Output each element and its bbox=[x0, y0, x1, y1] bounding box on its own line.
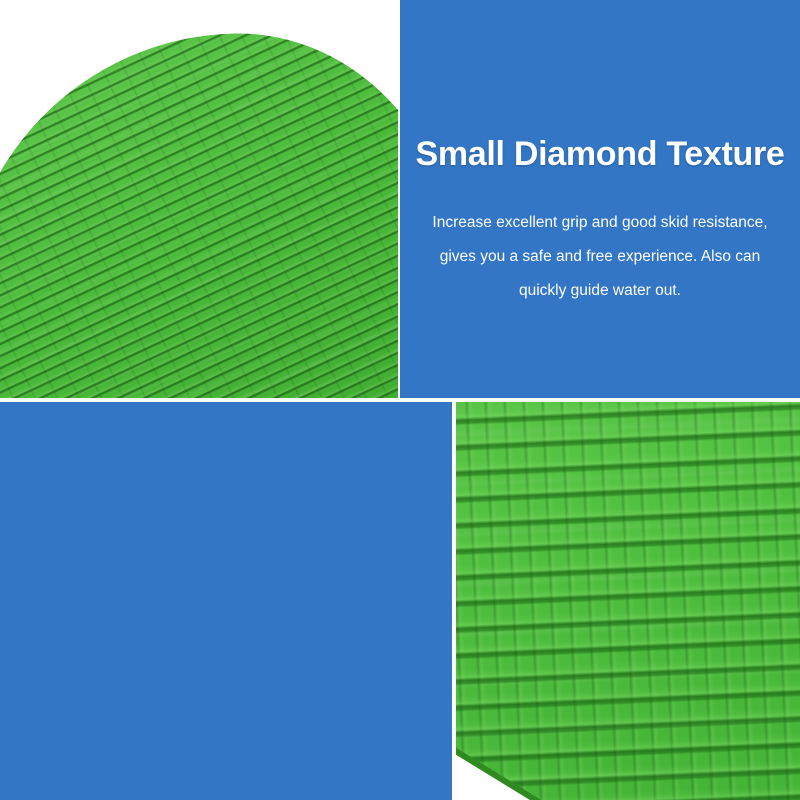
heading-small-diamond-texture: Small Diamond Texture bbox=[400, 134, 800, 174]
body-copy-line: quickly guide water out. bbox=[430, 274, 770, 308]
body-copy-line: gives you a safe and free experience. Al… bbox=[430, 240, 770, 274]
panel-top-right-text: Small Diamond Texture Increase excellent… bbox=[400, 0, 800, 398]
yoga-mat-wide-photo bbox=[0, 30, 398, 398]
body-copy-small-diamond-texture: Increase excellent grip and good skid re… bbox=[430, 206, 770, 308]
yoga-mat-macro-photo bbox=[456, 402, 800, 800]
panel-bottom-right-photo bbox=[456, 402, 800, 800]
product-feature-infographic: Small Diamond Texture Increase excellent… bbox=[0, 0, 800, 800]
body-copy-line: Increase excellent grip and good skid re… bbox=[430, 206, 770, 240]
panel-bottom-left-text: 5mm Thickness Good cushioning, reduce yo… bbox=[0, 402, 452, 800]
panel-top-left-photo bbox=[0, 0, 398, 398]
